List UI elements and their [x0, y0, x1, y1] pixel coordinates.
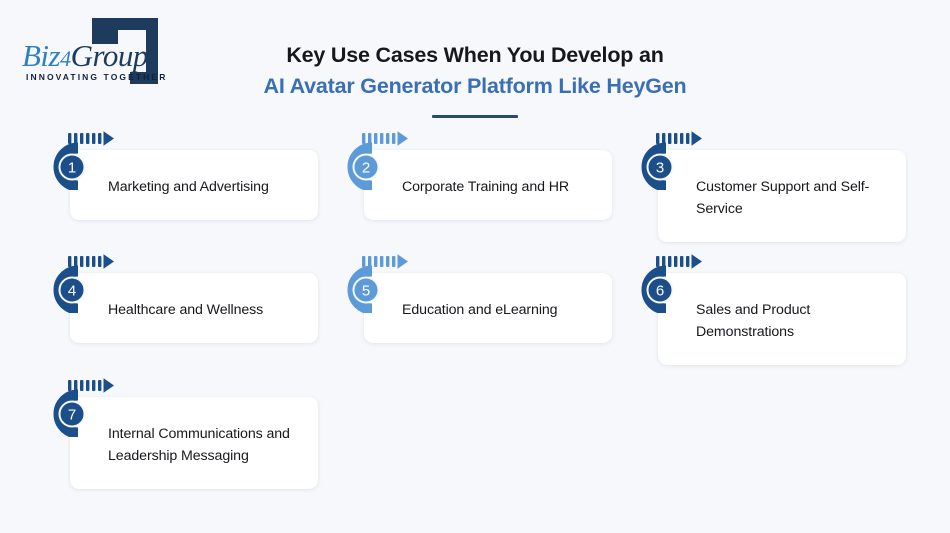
- step-badge-2: 2: [336, 128, 410, 190]
- use-case-grid: Marketing and Advertising 1: [0, 128, 950, 533]
- step-number: 3: [656, 160, 664, 177]
- title-divider: [432, 115, 518, 118]
- step-number: 1: [68, 160, 76, 177]
- title-line-primary: Key Use Cases When You Develop an: [160, 40, 790, 71]
- logo-text-group: Group: [71, 38, 148, 73]
- step-number: 7: [68, 407, 76, 424]
- page-title: Key Use Cases When You Develop an AI Ava…: [160, 40, 790, 118]
- step-number: 4: [68, 283, 76, 300]
- logo-wordmark: Biz4Group: [22, 40, 148, 71]
- step-number: 2: [362, 160, 370, 177]
- header: Biz4Group INNOVATING TOGETHER Key Use Ca…: [0, 0, 950, 128]
- logo-tagline: INNOVATING TOGETHER: [26, 72, 167, 82]
- step-number: 6: [656, 283, 664, 300]
- logo: Biz4Group INNOVATING TOGETHER: [18, 18, 178, 90]
- step-badge-3: 3: [630, 128, 704, 190]
- step-badge-7: 7: [42, 375, 116, 437]
- step-badge-5: 5: [336, 251, 410, 313]
- title-line-accent: AI Avatar Generator Platform Like HeyGen: [160, 71, 790, 102]
- step-badge-4: 4: [42, 251, 116, 313]
- step-badge-6: 6: [630, 251, 704, 313]
- step-number: 5: [362, 283, 370, 300]
- step-badge-1: 1: [42, 128, 116, 190]
- logo-text-four: 4: [60, 46, 71, 71]
- logo-text-biz: Biz: [22, 38, 60, 73]
